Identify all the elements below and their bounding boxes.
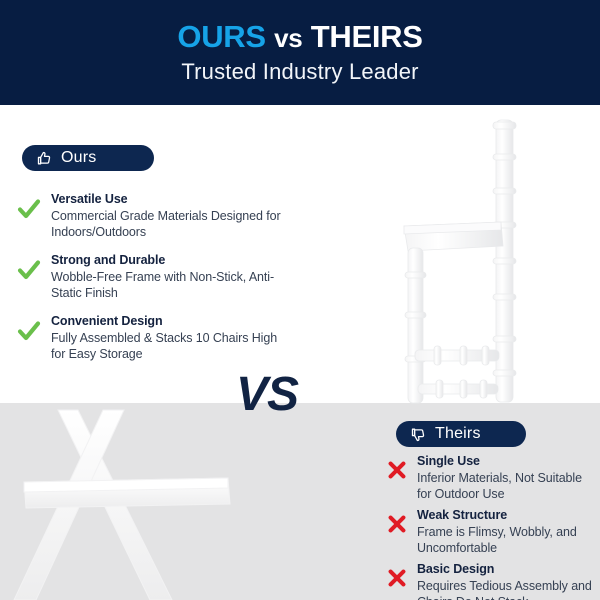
feature-title: Versatile Use bbox=[51, 192, 284, 207]
feature-title: Basic Design bbox=[417, 562, 596, 577]
list-item: Basic Design Requires Tedious Assembly a… bbox=[386, 562, 596, 600]
feature-description: Fully Assembled & Stacks 10 Chairs High … bbox=[51, 330, 284, 362]
list-item: Convenient Design Fully Assembled & Stac… bbox=[16, 314, 284, 362]
list-item: Weak Structure Frame is Flimsy, Wobbly, … bbox=[386, 508, 596, 556]
feature-text: Basic Design Requires Tedious Assembly a… bbox=[417, 562, 596, 600]
feature-title: Weak Structure bbox=[417, 508, 596, 523]
page-title: OURS vs THEIRS bbox=[177, 21, 422, 54]
feature-title: Convenient Design bbox=[51, 314, 284, 329]
check-icon bbox=[16, 196, 42, 222]
list-item: Single Use Inferior Materials, Not Suita… bbox=[386, 454, 596, 502]
feature-text: Versatile Use Commercial Grade Materials… bbox=[51, 192, 284, 240]
check-icon bbox=[16, 257, 42, 283]
theirs-badge-label: Theirs bbox=[435, 426, 481, 442]
feature-description: Wobble-Free Frame with Non-Stick, Anti-S… bbox=[51, 269, 284, 301]
feature-description: Requires Tedious Assembly and Chairs Do … bbox=[417, 578, 596, 600]
page-subtitle: Trusted Industry Leader bbox=[181, 60, 418, 84]
feature-text: Single Use Inferior Materials, Not Suita… bbox=[417, 454, 596, 502]
header-banner: OURS vs THEIRS Trusted Industry Leader bbox=[0, 0, 600, 105]
theirs-badge: Theirs bbox=[396, 421, 526, 447]
cross-icon bbox=[386, 513, 408, 535]
theirs-feature-list: Single Use Inferior Materials, Not Suita… bbox=[386, 454, 596, 600]
list-item: Versatile Use Commercial Grade Materials… bbox=[16, 192, 284, 240]
chiavari-chair-image bbox=[360, 112, 550, 407]
feature-text: Weak Structure Frame is Flimsy, Wobbly, … bbox=[417, 508, 596, 556]
cross-icon bbox=[386, 459, 408, 481]
ours-feature-list: Versatile Use Commercial Grade Materials… bbox=[16, 192, 284, 375]
ours-badge: Ours bbox=[22, 145, 154, 171]
ours-badge-label: Ours bbox=[61, 150, 96, 166]
feature-description: Commercial Grade Materials Designed for … bbox=[51, 208, 284, 240]
list-item: Strong and Durable Wobble-Free Frame wit… bbox=[16, 253, 284, 301]
title-vs: vs bbox=[274, 23, 302, 53]
title-ours: OURS bbox=[177, 19, 265, 54]
feature-description: Inferior Materials, Not Suitable for Out… bbox=[417, 470, 596, 502]
versus-label: VS bbox=[236, 371, 298, 419]
title-theirs: THEIRS bbox=[311, 19, 423, 54]
feature-description: Frame is Flimsy, Wobbly, and Uncomfortab… bbox=[417, 524, 596, 556]
cross-icon bbox=[386, 567, 408, 589]
thumbs-down-icon bbox=[410, 426, 427, 443]
folding-chair-image bbox=[0, 404, 290, 600]
thumbs-up-icon bbox=[36, 150, 53, 167]
comparison-infographic: OURS vs THEIRS Trusted Industry Leader O… bbox=[0, 0, 600, 600]
feature-title: Strong and Durable bbox=[51, 253, 284, 268]
feature-text: Strong and Durable Wobble-Free Frame wit… bbox=[51, 253, 284, 301]
feature-text: Convenient Design Fully Assembled & Stac… bbox=[51, 314, 284, 362]
feature-title: Single Use bbox=[417, 454, 596, 469]
check-icon bbox=[16, 318, 42, 344]
